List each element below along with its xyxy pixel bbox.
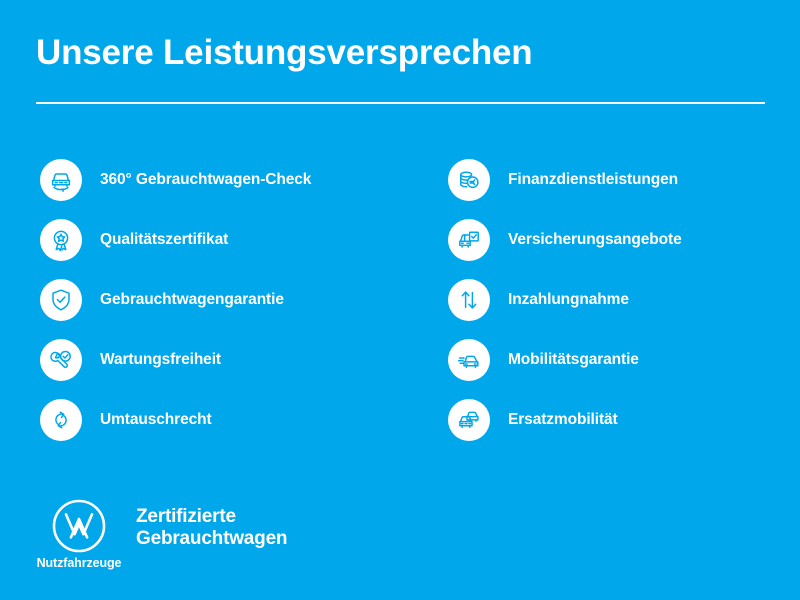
slide-root: Unsere Leistungsversprechen 3 (0, 0, 800, 600)
promise-label: 360° Gebrauchtwagen-Check (100, 172, 311, 188)
brand-logo-block: Nutzfahrzeuge (36, 498, 122, 570)
car-inspection-icon (40, 159, 82, 201)
promise-item-trade-in[interactable]: Inzahlungnahme (404, 270, 800, 330)
promise-item-maintenance-free[interactable]: Wartungsfreiheit (0, 330, 404, 390)
promise-item-360-check[interactable]: 360° Gebrauchtwagen-Check (0, 150, 404, 210)
promise-label: Qualitätszertifikat (100, 232, 228, 248)
promise-item-quality-certificate[interactable]: Qualitätszertifikat (0, 210, 404, 270)
brand-claim-line1: Zertifizierte (136, 506, 287, 528)
promise-label: Gebrauchtwagengarantie (100, 292, 284, 308)
promise-grid: 360° Gebrauchtwagen-Check Qualitätszerti… (0, 150, 800, 210)
quality-seal-icon (40, 219, 82, 261)
promise-item-mobility-guarantee[interactable]: Mobilitätsgarantie (404, 330, 800, 390)
page-title: Unsere Leistungsversprechen (36, 34, 766, 73)
promise-label: Mobilitätsgarantie (508, 352, 639, 368)
promise-label: Inzahlungnahme (508, 292, 629, 308)
promise-label: Wartungsfreiheit (100, 352, 221, 368)
car-checklist-icon (448, 219, 490, 261)
exchange-arrows-icon (40, 399, 82, 441)
title-divider (36, 102, 765, 104)
promise-item-financial-services[interactable]: Finanzdienstleistungen (404, 150, 800, 210)
promise-label: Finanzdienstleistungen (508, 172, 678, 188)
promise-item-used-car-warranty[interactable]: Gebrauchtwagengarantie (0, 270, 404, 330)
promise-item-right-of-exchange[interactable]: Umtauschrecht (0, 390, 404, 450)
two-cars-icon (448, 399, 490, 441)
promise-item-replacement-mobility[interactable]: Ersatzmobilität (404, 390, 800, 450)
promise-label: Versicherungsangebote (508, 232, 682, 248)
shield-check-icon (40, 279, 82, 321)
promise-label: Ersatzmobilität (508, 412, 618, 428)
vw-logo-icon (51, 498, 107, 554)
brand-footer: Nutzfahrzeuge Zertifizierte Gebrauchtwag… (36, 498, 287, 570)
up-down-arrows-icon (448, 279, 490, 321)
coins-euro-icon (448, 159, 490, 201)
promise-column-left: 360° Gebrauchtwagen-Check Qualitätszerti… (0, 150, 404, 210)
header: Unsere Leistungsversprechen (36, 34, 766, 73)
brand-claim: Zertifizierte Gebrauchtwagen (136, 506, 287, 551)
brand-sub-name: Nutzfahrzeuge (37, 556, 122, 570)
promise-label: Umtauschrecht (100, 412, 212, 428)
promise-column-right: Finanzdienstleistungen Versicherungsange… (404, 150, 800, 210)
moving-car-icon (448, 339, 490, 381)
wrench-check-icon (40, 339, 82, 381)
promise-item-insurance-offers[interactable]: Versicherungsangebote (404, 210, 800, 270)
brand-claim-line2: Gebrauchtwagen (136, 528, 287, 550)
